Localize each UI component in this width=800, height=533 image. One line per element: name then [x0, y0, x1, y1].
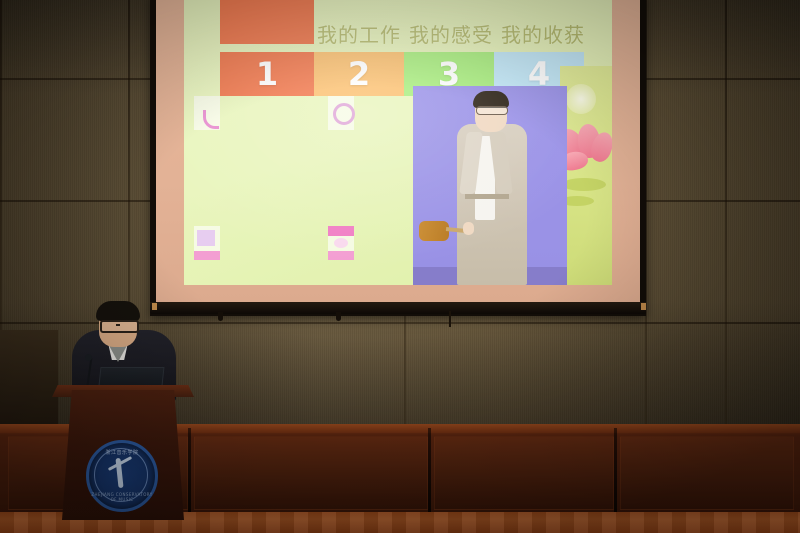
- screen-weight-knob: [336, 312, 341, 321]
- wood-panel-seam: [188, 428, 191, 516]
- slide-title-3: 我的感受: [408, 18, 494, 52]
- number-block-2-label: 2: [314, 52, 404, 96]
- decor-thumbnail-bottom-left: [194, 226, 220, 260]
- thumbnail-accent-bar: [328, 251, 354, 260]
- slide-portrait-photo: [413, 86, 567, 285]
- photo-hand: [463, 222, 474, 235]
- auditorium-scene: 自我介绍 我的工作 我的感受 我的收获 1 2 3 4: [0, 0, 800, 533]
- wall-seam-vertical: [725, 0, 727, 430]
- emblem-top-text: 浙江音乐学院: [89, 449, 155, 456]
- slide-title-2: 我的工作: [316, 18, 402, 52]
- microphone-head-icon: [85, 354, 92, 361]
- number-block-1: 1: [220, 52, 314, 96]
- photo-glasses-icon: [476, 106, 508, 115]
- photo-belt: [465, 194, 509, 199]
- photo-broom-prop: [419, 221, 449, 241]
- screen-bar-end-cap: [152, 303, 157, 310]
- projection-screen-bottom-bar: [150, 302, 646, 314]
- institution-emblem: 浙江音乐学院 ZHEJIANG CONSERVATORY OF MUSIC: [86, 440, 158, 512]
- speaker-glasses-bridge: [116, 324, 120, 326]
- screen-weight-knob: [218, 312, 223, 321]
- lotus-sun-glow: [566, 84, 596, 114]
- speaker-glasses-icon: [100, 320, 139, 333]
- number-block-1-label: 1: [220, 52, 314, 96]
- projected-slide: 自我介绍 我的工作 我的感受 我的收获 1 2 3 4: [184, 0, 612, 285]
- emblem-bottom-text: ZHEJIANG CONSERVATORY OF MUSIC: [89, 492, 155, 502]
- number-block-2: 2: [314, 52, 404, 96]
- active-tab-highlight: [220, 0, 314, 44]
- wood-panel: [434, 436, 614, 510]
- thumbnail-accent-bar: [194, 251, 220, 260]
- wood-panel-seam: [614, 428, 617, 516]
- lily-pad: [562, 178, 606, 191]
- screen-bar-end-cap: [641, 303, 646, 310]
- slide-title-4: 我的收获: [500, 18, 586, 52]
- decor-thumbnail-top-right: [328, 96, 354, 130]
- wood-panel-seam: [428, 428, 431, 516]
- stage-side-panel: [0, 330, 58, 424]
- wood-panel: [194, 436, 428, 510]
- speaker-hair: [96, 301, 140, 321]
- decor-thumbnail-top-left: [194, 96, 220, 130]
- decor-thumbnail-bottom-right: [328, 226, 354, 260]
- wood-panel: [620, 436, 794, 510]
- screen-pull-cord: [449, 311, 451, 327]
